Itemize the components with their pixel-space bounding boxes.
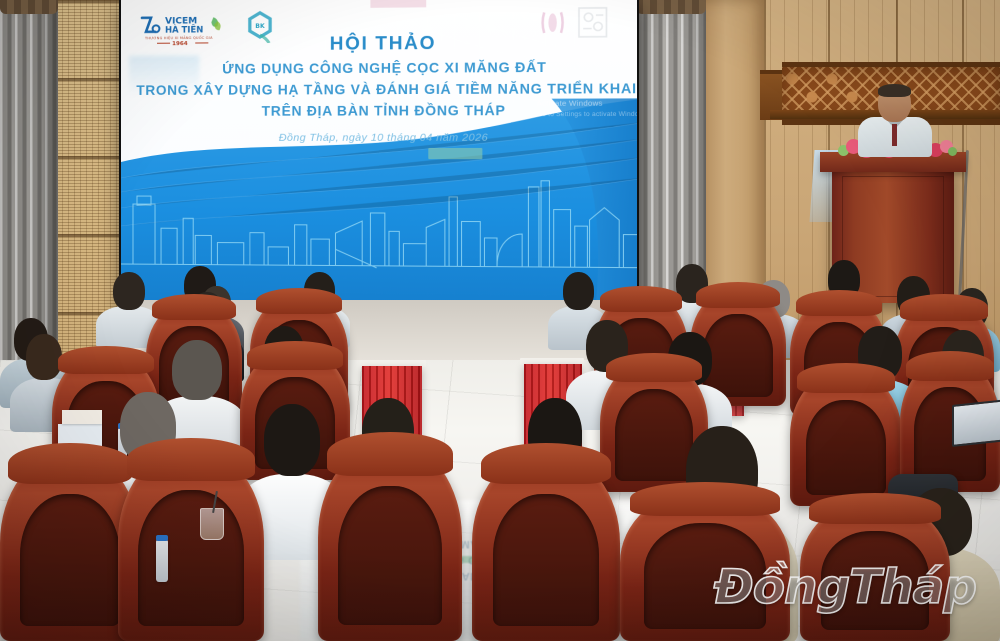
speaker-tie bbox=[892, 124, 897, 146]
slide-title-line-1: ỨNG DỤNG CÔNG NGHỆ CỌC XI MĂNG ĐẤT bbox=[121, 59, 637, 77]
screenshot-root: VICEM HÀ TIÊN THƯƠNG HIỆU XI MĂNG QUỐC G… bbox=[0, 0, 1000, 641]
windows-activation-watermark: Activate Windows Go to Settings to activ… bbox=[537, 98, 637, 119]
iced-drink-cup-2 bbox=[200, 508, 224, 540]
chair-front-row-4 bbox=[472, 452, 620, 641]
slide-title-line-2: TRONG XÂY DỰNG HẠ TẦNG VÀ ĐÁNH GIÁ TIỀM … bbox=[121, 81, 637, 98]
chair-front-row-6 bbox=[800, 500, 950, 641]
speaker-hair bbox=[878, 84, 911, 97]
slide-heading: HỘI THẢO bbox=[121, 30, 637, 56]
slide-date-line: Đồng Tháp, ngày 10 tháng 04 năm 2026 bbox=[121, 131, 637, 144]
water-bottle-3 bbox=[156, 540, 168, 582]
conference-room: VICEM HÀ TIÊN THƯƠNG HIỆU XI MĂNG QUỐC G… bbox=[0, 0, 1000, 641]
chair-front-row-3 bbox=[318, 442, 462, 641]
chair-front-row-5 bbox=[620, 490, 790, 641]
chair-front-row-2 bbox=[118, 448, 264, 641]
slide-green-chip bbox=[428, 148, 482, 159]
laptop-right bbox=[952, 399, 1000, 447]
projection-screen: VICEM HÀ TIÊN THƯƠNG HIỆU XI MĂNG QUỐC G… bbox=[121, 0, 637, 300]
svg-text:BK: BK bbox=[255, 23, 265, 30]
activate-windows-title: Activate Windows bbox=[537, 98, 637, 110]
curtain-valance-right bbox=[636, 0, 706, 14]
chair-mid-row-4 bbox=[790, 370, 902, 506]
curtain-valance-left bbox=[0, 0, 58, 14]
speaker-person bbox=[856, 84, 936, 154]
projection-screen-frame: VICEM HÀ TIÊN THƯƠNG HIỆU XI MĂNG QUỐC G… bbox=[119, 0, 639, 311]
activate-windows-subtitle: Go to Settings to activate Windows. bbox=[537, 110, 637, 120]
